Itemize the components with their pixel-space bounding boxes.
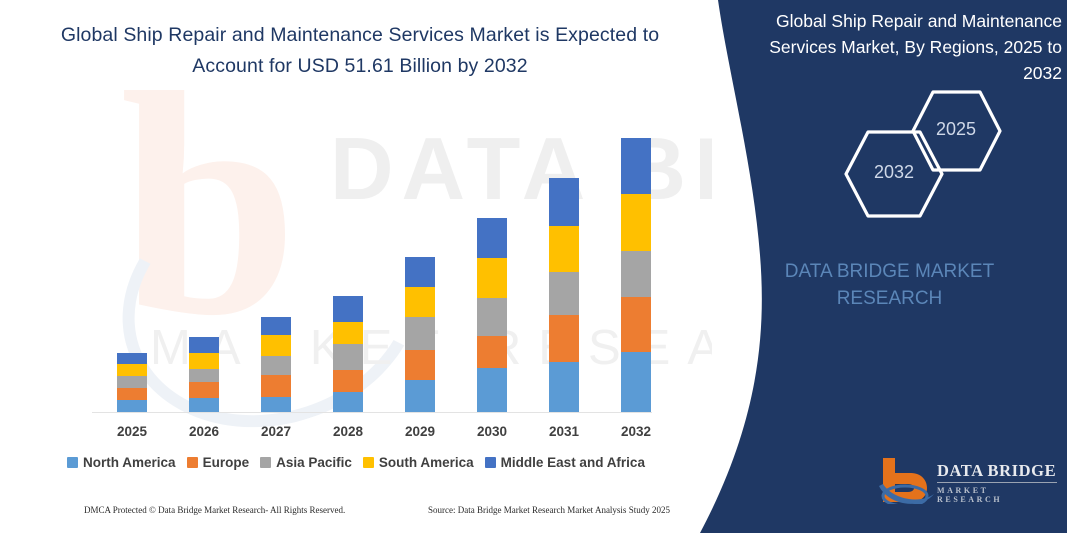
bar-segment [405,257,435,287]
bar-segment [333,322,363,344]
bar-segment [261,335,291,356]
bar-2027[interactable] [261,317,291,412]
bar-segment [333,344,363,370]
legend-swatch-icon [187,457,198,468]
legend-label: Asia Pacific [276,455,352,470]
logo-wordmark: DATA BRIDGE MARKET RESEARCH [937,461,1057,504]
bar-segment [189,398,219,412]
logo-main-text: DATA BRIDGE [937,461,1057,483]
legend-label: Middle East and Africa [501,455,645,470]
legend-swatch-icon [485,457,496,468]
bar-segment [477,368,507,412]
footer: DMCA Protected © Data Bridge Market Rese… [0,505,712,525]
bar-segment [333,370,363,392]
bar-2031[interactable] [549,178,579,412]
x-axis-label-2029: 2029 [390,424,450,439]
hexagon-group: 2032 2025 [712,88,1067,218]
bar-segment [621,138,651,194]
axis-baseline [92,412,652,413]
legend-label: Europe [203,455,250,470]
legend-label: North America [83,455,176,470]
legend-swatch-icon [67,457,78,468]
bar-segment [549,272,579,315]
legend-item[interactable]: Europe [187,455,250,470]
bar-segment [117,400,147,412]
hexagon-2025: 2025 [908,88,1004,174]
footer-source: Source: Data Bridge Market Research Mark… [428,505,670,515]
bar-segment [189,369,219,382]
legend-label: South America [379,455,474,470]
bar-segment [477,298,507,336]
bar-segment [621,297,651,352]
panel-title: Global Ship Repair and Maintenance Servi… [737,8,1062,86]
infographic-canvas: b DATA BRIDGE MARKET RESEARCH Global Shi… [0,0,1067,533]
legend-item[interactable]: South America [363,455,474,470]
x-axis-label-2025: 2025 [102,424,162,439]
bar-segment [261,356,291,375]
data-bridge-logo: DATA BRIDGE MARKET RESEARCH [877,452,1057,508]
x-axis-labels: 20252026202720282029203020312032 [0,424,712,446]
bar-2028[interactable] [333,296,363,412]
x-axis-label-2030: 2030 [462,424,522,439]
bar-segment [117,353,147,364]
chart-area: b DATA BRIDGE MARKET RESEARCH Global Shi… [0,0,712,533]
bar-segment [261,397,291,412]
legend-item[interactable]: Middle East and Africa [485,455,645,470]
bar-segment [117,388,147,400]
bar-segment [117,376,147,388]
bar-segment [189,353,219,369]
bar-segment [549,226,579,272]
bar-segment [189,337,219,353]
bar-2026[interactable] [189,337,219,412]
bar-2025[interactable] [117,353,147,412]
bar-segment [549,362,579,412]
legend-item[interactable]: North America [67,455,176,470]
bar-segment [189,382,219,398]
bar-segment [477,336,507,368]
legend-item[interactable]: Asia Pacific [260,455,352,470]
bar-2029[interactable] [405,257,435,412]
hexagon-2025-label: 2025 [908,119,1004,140]
panel-brand-text: DATA BRIDGE MARKET RESEARCH [732,258,1047,312]
bar-segment [261,375,291,397]
stacked-bar-plot [0,0,712,533]
bar-segment [621,352,651,412]
bar-segment [405,287,435,317]
x-axis-label-2026: 2026 [174,424,234,439]
bar-2030[interactable] [477,218,507,412]
legend-swatch-icon [260,457,271,468]
bar-2032[interactable] [621,138,651,412]
logo-mark-icon [877,456,935,504]
bar-segment [405,317,435,350]
bar-segment [117,364,147,376]
bar-segment [477,258,507,298]
bar-segment [333,296,363,322]
footer-copyright: DMCA Protected © Data Bridge Market Rese… [84,505,345,515]
x-axis-label-2031: 2031 [534,424,594,439]
bar-segment [549,315,579,362]
bar-segment [405,350,435,380]
bar-segment [261,317,291,335]
x-axis-label-2032: 2032 [606,424,666,439]
bar-segment [333,392,363,412]
bar-segment [621,251,651,297]
bar-segment [621,194,651,251]
legend-swatch-icon [363,457,374,468]
logo-sub-text: MARKET RESEARCH [937,486,1057,504]
chart-legend: North AmericaEuropeAsia PacificSouth Ame… [0,455,712,470]
x-axis-label-2027: 2027 [246,424,306,439]
bar-segment [549,178,579,226]
bar-segment [477,218,507,258]
x-axis-label-2028: 2028 [318,424,378,439]
bar-segment [405,380,435,412]
